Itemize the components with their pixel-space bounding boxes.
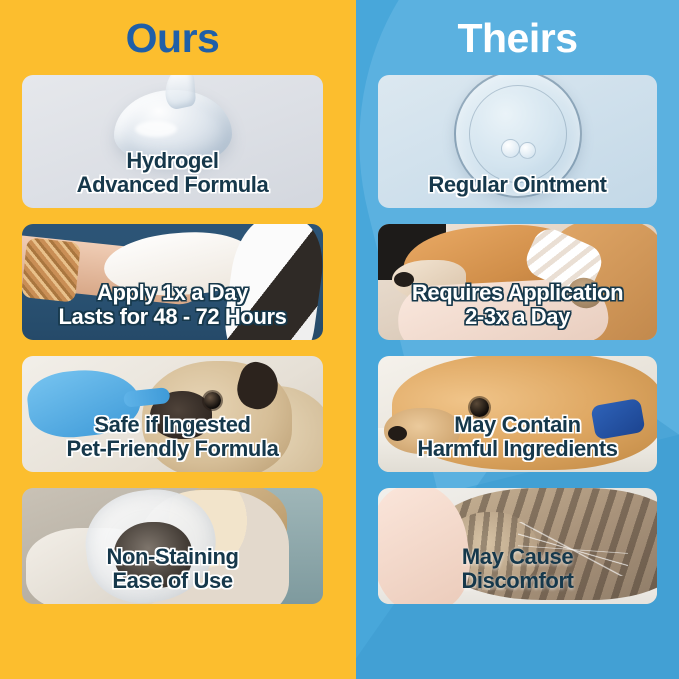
- ours-card-non-staining[interactable]: Non-Staining Ease of Use: [22, 488, 323, 604]
- caption-line: Requires Application: [384, 281, 651, 306]
- caption-line: 2-3x a Day: [384, 305, 651, 330]
- caption-line: May Contain: [384, 413, 651, 438]
- theirs-card-discomfort-caption: May Cause Discomfort: [378, 545, 657, 604]
- theirs-card-harmful-ingredients-caption: May Contain Harmful Ingredients: [378, 413, 657, 472]
- ours-card-non-staining-caption: Non-Staining Ease of Use: [22, 545, 323, 604]
- ours-card-safe-if-ingested[interactable]: Safe if Ingested Pet-Friendly Formula: [22, 356, 323, 472]
- caption-line: Lasts for 48 - 72 Hours: [28, 305, 317, 330]
- caption-line: Safe if Ingested: [28, 413, 317, 438]
- theirs-card-list: Regular Ointment: [378, 75, 657, 604]
- theirs-card-application-frequency[interactable]: Requires Application 2-3x a Day: [378, 224, 657, 340]
- ours-card-safe-if-ingested-caption: Safe if Ingested Pet-Friendly Formula: [22, 413, 323, 472]
- ours-column: Ours Hydrogel Advanced Formula: [0, 0, 345, 679]
- caption-line: May Cause: [384, 545, 651, 570]
- ours-card-apply-frequency-caption: Apply 1x a Day Lasts for 48 - 72 Hours: [22, 281, 323, 340]
- comparison-infographic: Ours Hydrogel Advanced Formula: [0, 0, 679, 679]
- theirs-card-regular-ointment-caption: Regular Ointment: [378, 173, 657, 208]
- theirs-heading: Theirs: [378, 0, 657, 75]
- theirs-column: Theirs Regular Ointment: [345, 0, 679, 679]
- caption-line: Ease of Use: [28, 569, 317, 594]
- caption-line: Regular Ointment: [384, 173, 651, 198]
- theirs-card-regular-ointment[interactable]: Regular Ointment: [378, 75, 657, 208]
- theirs-card-discomfort[interactable]: May Cause Discomfort: [378, 488, 657, 604]
- caption-line: Advanced Formula: [28, 173, 317, 198]
- theirs-card-harmful-ingredients[interactable]: May Contain Harmful Ingredients: [378, 356, 657, 472]
- ours-card-hydrogel-caption: Hydrogel Advanced Formula: [22, 149, 323, 208]
- caption-line: Apply 1x a Day: [28, 281, 317, 306]
- caption-line: Hydrogel: [28, 149, 317, 174]
- caption-line: Pet-Friendly Formula: [28, 437, 317, 462]
- ours-card-list: Hydrogel Advanced Formula Apply 1x a Day: [22, 75, 323, 604]
- caption-line: Discomfort: [384, 569, 651, 594]
- ours-card-apply-frequency[interactable]: Apply 1x a Day Lasts for 48 - 72 Hours: [22, 224, 323, 340]
- caption-line: Harmful Ingredients: [384, 437, 651, 462]
- ours-card-hydrogel[interactable]: Hydrogel Advanced Formula: [22, 75, 323, 208]
- caption-line: Non-Staining: [28, 545, 317, 570]
- theirs-card-application-frequency-caption: Requires Application 2-3x a Day: [378, 281, 657, 340]
- ours-heading: Ours: [22, 0, 323, 75]
